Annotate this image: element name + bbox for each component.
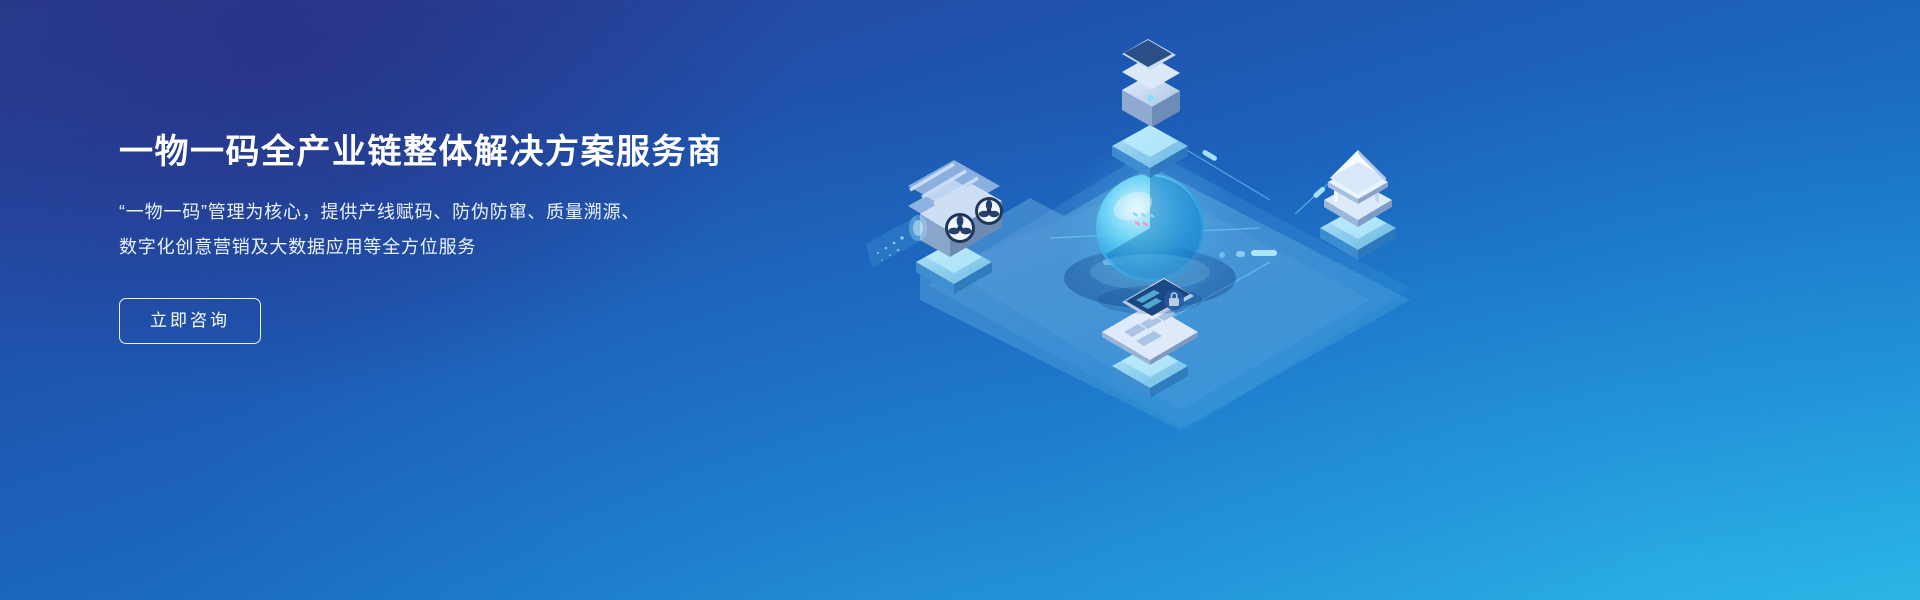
hero-subtitle-line-2: 数字化创意营销及大数据应用等全方位服务 — [119, 230, 723, 265]
fan-icon — [945, 213, 975, 243]
fan-icon-2 — [975, 197, 1003, 225]
server-cooling-fans — [866, 160, 1003, 294]
consult-now-button[interactable]: 立即咨询 — [119, 298, 261, 344]
scan-emission — [866, 215, 927, 268]
hero-subtitle: “一物一码”管理为核心，提供产线赋码、防伪防窜、质量溯源、 数字化创意营销及大数… — [119, 173, 723, 265]
hero-subtitle-line-1: “一物一码”管理为核心，提供产线赋码、防伪防窜、质量溯源、 — [119, 195, 723, 230]
sphere-reflection — [1098, 286, 1202, 314]
hero-illustration — [850, 0, 1550, 600]
hero-copy-block: 一物一码全产业链整体解决方案服务商 “一物一码”管理为核心，提供产线赋码、防伪防… — [119, 132, 723, 344]
page-title: 一物一码全产业链整体解决方案服务商 — [119, 132, 723, 173]
hero-banner: 一物一码全产业链整体解决方案服务商 “一物一码”管理为核心，提供产线赋码、防伪防… — [0, 0, 1920, 600]
bank-building — [1320, 150, 1396, 260]
